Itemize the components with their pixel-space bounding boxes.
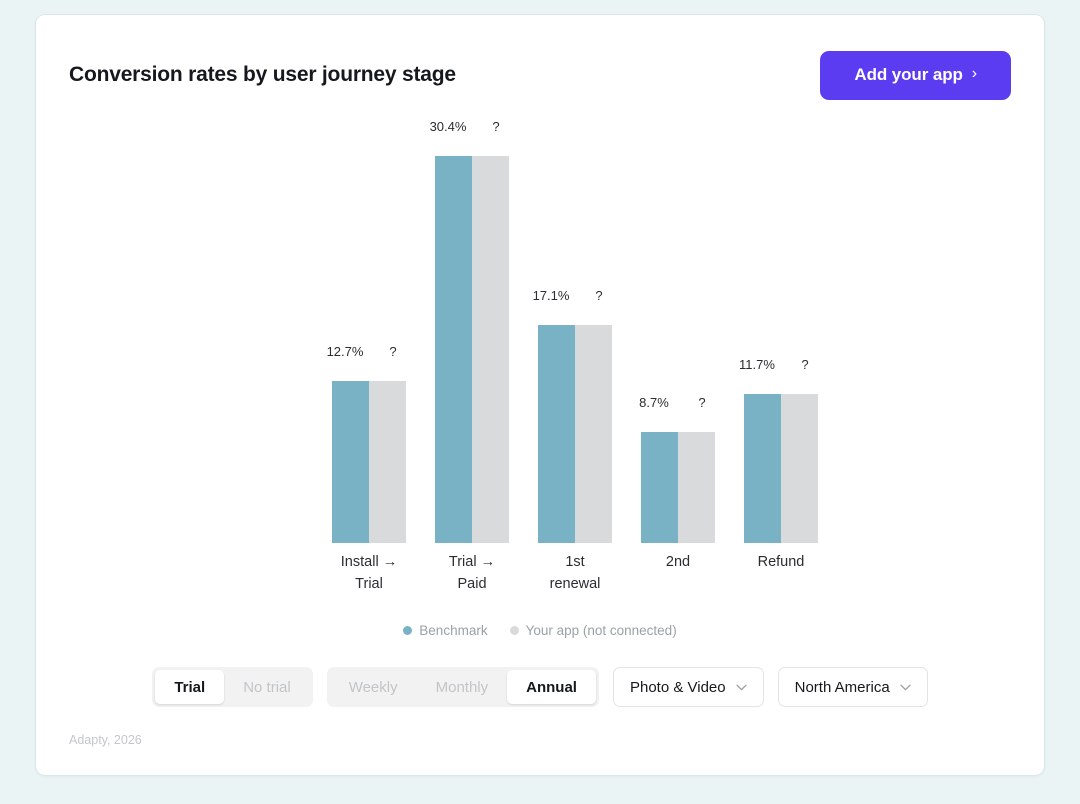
bar-group[interactable]: 11.7%? xyxy=(721,123,841,543)
x-axis-tick-label: Refund xyxy=(716,551,846,573)
legend-item[interactable]: Your app (not connected) xyxy=(510,623,677,638)
bar-pair xyxy=(641,432,715,543)
bar-benchmark[interactable] xyxy=(332,381,369,543)
bar-your-app[interactable] xyxy=(678,432,715,543)
bar-your-app[interactable] xyxy=(472,156,509,543)
bar-pair xyxy=(744,394,818,543)
bar-value-benchmark: 17.1% xyxy=(527,288,575,303)
bar-value-labels: 17.1%? xyxy=(516,288,634,303)
segment-no-trial[interactable]: No trial xyxy=(224,670,310,704)
card-header: Conversion rates by user journey stage A… xyxy=(36,47,1044,103)
bar-group[interactable]: 12.7%? xyxy=(309,123,429,543)
bar-pair xyxy=(435,156,509,543)
x-axis-labels: Install →TrialTrial →Paid1strenewal2ndRe… xyxy=(69,551,1013,611)
page-title: Conversion rates by user journey stage xyxy=(69,63,456,87)
bar-value-benchmark: 12.7% xyxy=(321,344,369,359)
bar-value-your-app: ? xyxy=(781,357,829,372)
legend-swatch-icon xyxy=(510,626,519,635)
bar-benchmark[interactable] xyxy=(435,156,472,543)
bar-value-benchmark: 30.4% xyxy=(424,119,472,134)
bar-value-your-app: ? xyxy=(472,119,520,134)
bar-your-app[interactable] xyxy=(781,394,818,543)
bar-value-labels: 8.7%? xyxy=(619,395,737,410)
legend-swatch-icon xyxy=(403,626,412,635)
bar-chart: 12.7%?30.4%?17.1%?8.7%?11.7%? Install →T… xyxy=(69,123,1013,623)
bar-group[interactable]: 30.4%? xyxy=(412,123,532,543)
bar-value-benchmark: 8.7% xyxy=(630,395,678,410)
segment-weekly[interactable]: Weekly xyxy=(330,670,417,704)
bar-group[interactable]: 17.1%? xyxy=(515,123,635,543)
bar-pair xyxy=(332,381,406,543)
chart-card: Conversion rates by user journey stage A… xyxy=(35,14,1045,776)
chart-plot-area: 12.7%?30.4%?17.1%?8.7%?11.7%? xyxy=(69,123,1013,543)
bar-value-your-app: ? xyxy=(369,344,417,359)
bar-value-labels: 12.7%? xyxy=(310,344,428,359)
bar-benchmark[interactable] xyxy=(538,325,575,543)
category-dropdown-value: Photo & Video xyxy=(630,679,726,696)
bar-value-labels: 30.4%? xyxy=(413,119,531,134)
bar-benchmark[interactable] xyxy=(744,394,781,543)
chevron-right-icon: › xyxy=(972,66,977,82)
segment-trial[interactable]: Trial xyxy=(155,670,224,704)
region-dropdown-value: North America xyxy=(795,679,890,696)
legend-item[interactable]: Benchmark xyxy=(403,623,487,638)
bar-your-app[interactable] xyxy=(575,325,612,543)
bar-group[interactable]: 8.7%? xyxy=(618,123,738,543)
chart-legend: BenchmarkYour app (not connected) xyxy=(36,623,1044,638)
bar-value-your-app: ? xyxy=(575,288,623,303)
bar-pair xyxy=(538,325,612,543)
segment-annual[interactable]: Annual xyxy=(507,670,596,704)
footer-credit: Adapty, 2026 xyxy=(69,733,142,747)
chevron-down-icon xyxy=(736,684,747,691)
chevron-down-icon xyxy=(900,684,911,691)
bar-your-app[interactable] xyxy=(369,381,406,543)
add-your-app-label: Add your app xyxy=(854,65,962,85)
bar-benchmark[interactable] xyxy=(641,432,678,543)
legend-label: Your app (not connected) xyxy=(526,623,677,638)
legend-label: Benchmark xyxy=(419,623,487,638)
add-your-app-button[interactable]: Add your app › xyxy=(820,51,1011,100)
bar-value-benchmark: 11.7% xyxy=(733,357,781,372)
category-dropdown[interactable]: Photo & Video xyxy=(613,667,764,707)
segment-monthly[interactable]: Monthly xyxy=(417,670,508,704)
trial-toggle-group[interactable]: TrialNo trial xyxy=(152,667,312,707)
region-dropdown[interactable]: North America xyxy=(778,667,928,707)
bar-value-labels: 11.7%? xyxy=(722,357,840,372)
chart-controls: TrialNo trial WeeklyMonthlyAnnual Photo … xyxy=(36,667,1044,707)
period-toggle-group[interactable]: WeeklyMonthlyAnnual xyxy=(327,667,599,707)
bar-value-your-app: ? xyxy=(678,395,726,410)
